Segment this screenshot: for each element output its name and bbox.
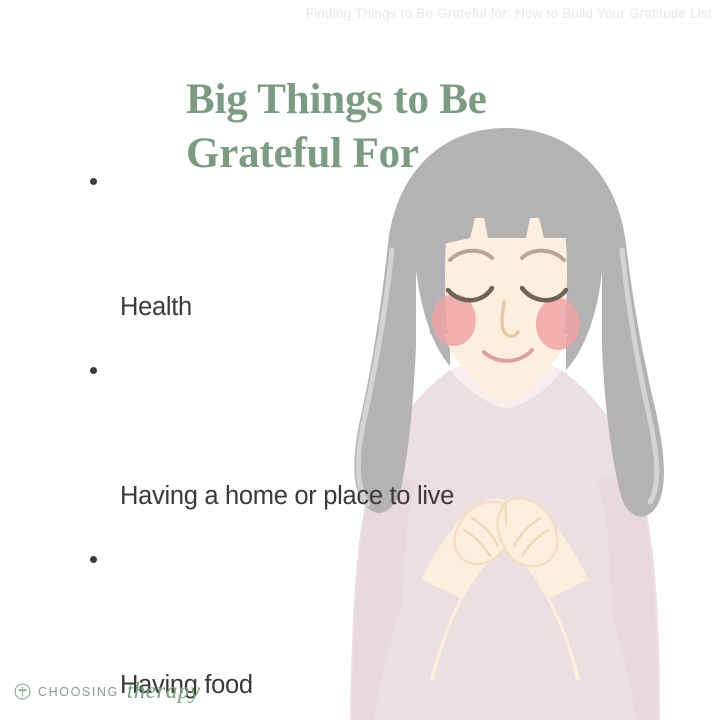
leaf-cross-circle-icon	[14, 683, 31, 700]
list-item: Health	[84, 150, 664, 339]
brand-word-therapy: therapy	[127, 679, 201, 702]
brand-word-choosing: CHOOSING	[38, 685, 119, 699]
bullet-dot	[90, 367, 97, 374]
article-kicker: Finding Things to Be Grateful for: How t…	[306, 6, 712, 21]
gratitude-list: Health Having a home or place to live Ha…	[84, 150, 664, 720]
bullet-dot	[90, 178, 97, 185]
brand-logo[interactable]: CHOOSING therapy	[14, 681, 201, 702]
list-item: Having a home or place to live	[84, 339, 664, 528]
list-item-label: Having a home or place to live	[120, 482, 454, 510]
bullet-dot	[90, 556, 97, 563]
list-item-label: Health	[120, 293, 192, 321]
infographic-canvas: Finding Things to Be Grateful for: How t…	[0, 0, 720, 720]
